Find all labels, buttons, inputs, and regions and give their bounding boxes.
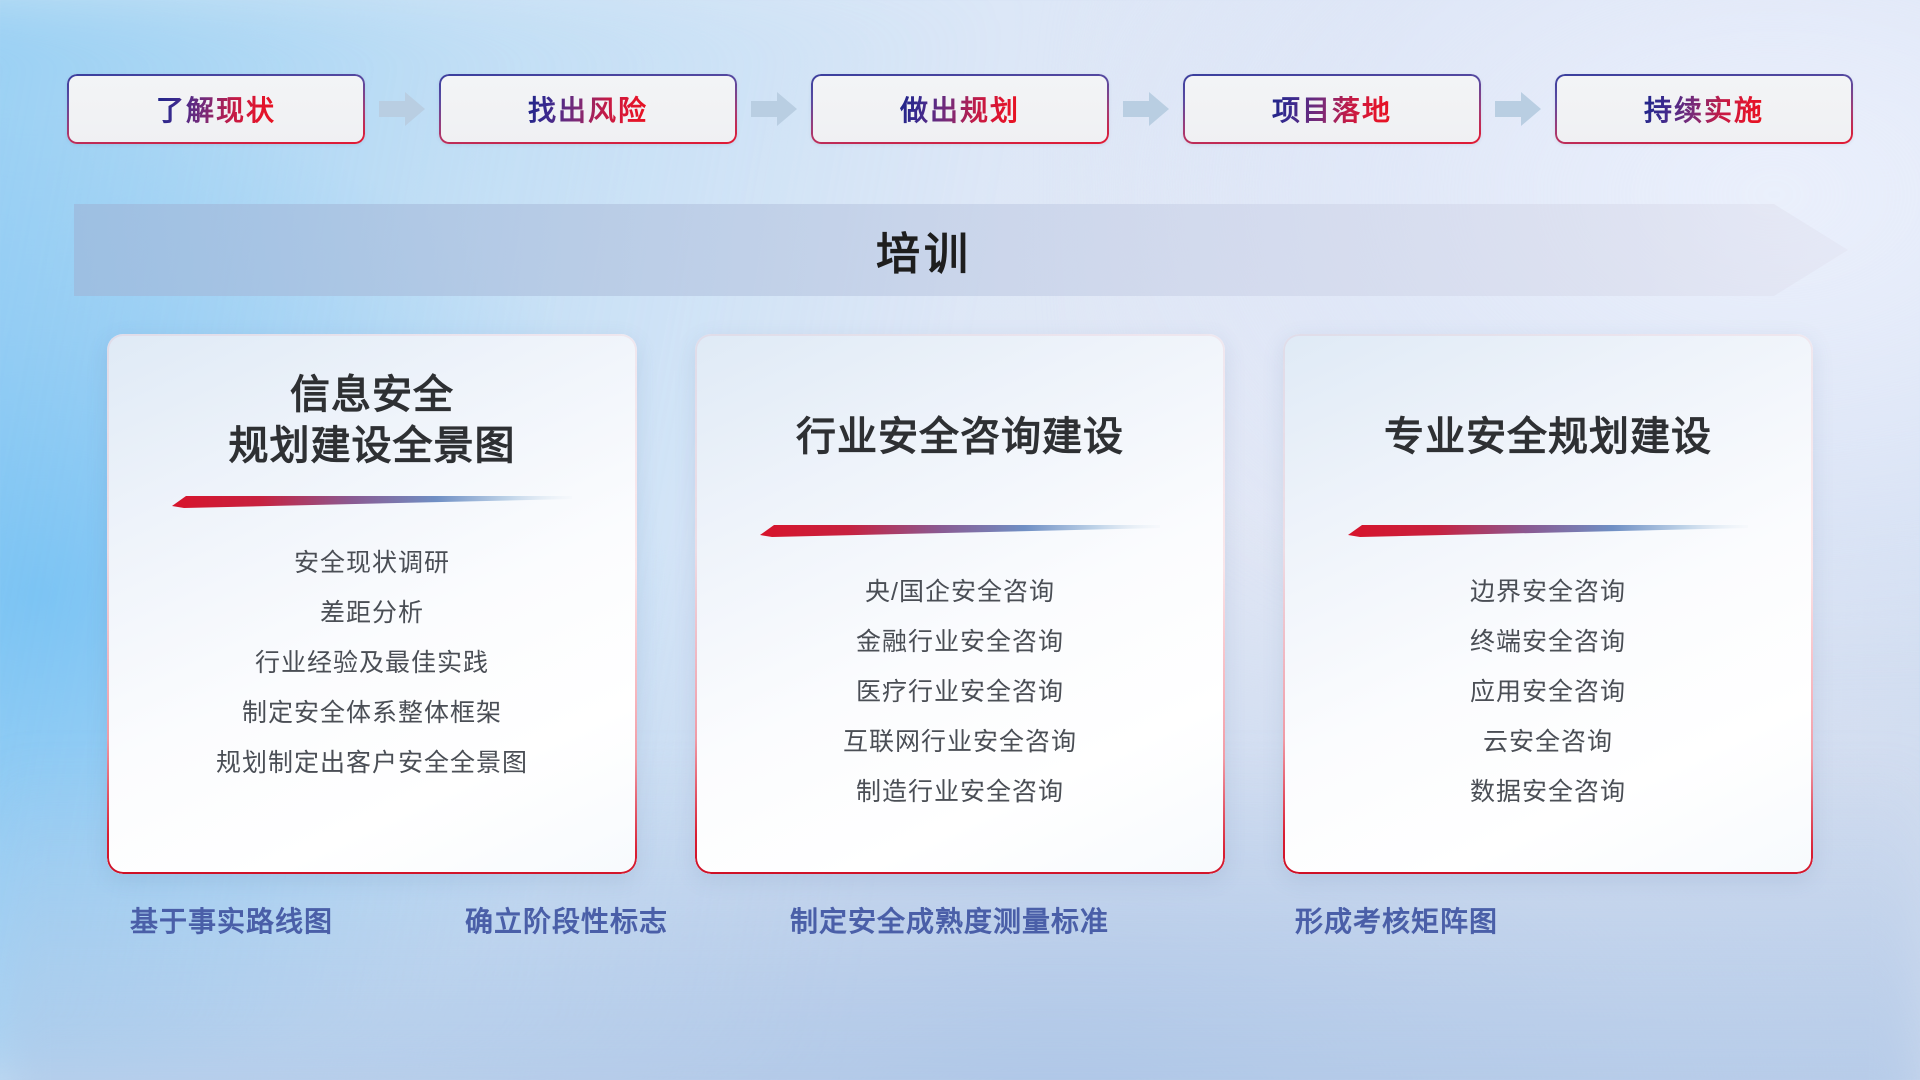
red-gradient-rule-icon (1348, 523, 1748, 537)
card-professional-security-planning[interactable]: 专业安全规划建设 (1283, 334, 1813, 874)
list-item: 互联网行业安全咨询 (843, 717, 1077, 767)
card-information-security-blueprint[interactable]: 信息安全 规划建设全景图 (107, 334, 637, 874)
card-title-1: 信息安全 规划建设全景图 (137, 370, 607, 472)
step-label-5: 持续实施 (1644, 89, 1764, 129)
list-item: 央/国企安全咨询 (865, 567, 1055, 617)
step-label-4: 项目落地 (1272, 89, 1392, 129)
step-box-1[interactable]: 了解现状 (67, 74, 365, 144)
process-step-row: 了解现状 找出风险 做出规划 项目落地 (0, 72, 1920, 146)
red-gradient-rule-icon (172, 494, 572, 508)
list-item: 差距分析 (320, 588, 424, 638)
card-list-3: 边界安全咨询 终端安全咨询 应用安全咨询 云安全咨询 数据安全咨询 (1283, 567, 1813, 817)
list-item: 制定安全体系整体框架 (242, 688, 502, 738)
card-title-2-line-1: 行业安全咨询建设 (725, 412, 1195, 463)
list-item: 金融行业安全咨询 (856, 617, 1064, 667)
step-box-2[interactable]: 找出风险 (439, 74, 737, 144)
card-title-3: 专业安全规划建设 (1313, 412, 1783, 463)
list-item: 行业经验及最佳实践 (255, 638, 489, 688)
step-label-1: 了解现状 (156, 89, 276, 129)
caption-1: 基于事实路线图 (130, 900, 333, 940)
list-item: 安全现状调研 (294, 538, 450, 588)
card-divider-3 (1348, 523, 1748, 537)
card-title-3-line-1: 专业安全规划建设 (1313, 412, 1783, 463)
step-arrow-icon-4 (1481, 74, 1555, 144)
list-item: 应用安全咨询 (1470, 667, 1626, 717)
card-row: 信息安全 规划建设全景图 (0, 334, 1920, 878)
step-label-3: 做出规划 (900, 89, 1020, 129)
list-item: 数据安全咨询 (1470, 767, 1626, 817)
step-box-3[interactable]: 做出规划 (811, 74, 1109, 144)
step-arrow-icon-2 (737, 74, 811, 144)
list-item: 规划制定出客户安全全景图 (216, 738, 528, 788)
card-industry-security-consulting[interactable]: 行业安全咨询建设 (695, 334, 1225, 874)
step-box-5[interactable]: 持续实施 (1555, 74, 1853, 144)
card-divider-1 (172, 494, 572, 508)
list-item: 云安全咨询 (1483, 717, 1613, 767)
caption-row: 基于事实路线图 确立阶段性标志 制定安全成熟度测量标准 形成考核矩阵图 (0, 900, 1920, 960)
step-label-2: 找出风险 (528, 89, 648, 129)
banner-title: 培训 (74, 204, 1774, 296)
list-item: 边界安全咨询 (1470, 567, 1626, 617)
caption-4: 形成考核矩阵图 (1295, 900, 1498, 940)
step-box-4[interactable]: 项目落地 (1183, 74, 1481, 144)
card-divider-2 (760, 523, 1160, 537)
card-title-1-line-1: 信息安全 (137, 370, 607, 421)
card-list-2: 央/国企安全咨询 金融行业安全咨询 医疗行业安全咨询 互联网行业安全咨询 制造行… (695, 567, 1225, 817)
card-title-2: 行业安全咨询建设 (725, 412, 1195, 463)
card-title-1-line-2: 规划建设全景图 (137, 421, 607, 472)
card-list-1: 安全现状调研 差距分析 行业经验及最佳实践 制定安全体系整体框架 规划制定出客户… (107, 538, 637, 788)
list-item: 制造行业安全咨询 (856, 767, 1064, 817)
slide-stage: 了解现状 找出风险 做出规划 项目落地 (0, 0, 1920, 1080)
list-item: 终端安全咨询 (1470, 617, 1626, 667)
step-arrow-icon-3 (1109, 74, 1183, 144)
step-arrow-icon-1 (365, 74, 439, 144)
red-gradient-rule-icon (760, 523, 1160, 537)
caption-3: 制定安全成熟度测量标准 (790, 900, 1109, 940)
caption-2: 确立阶段性标志 (465, 900, 668, 940)
training-banner: 培训 (74, 204, 1848, 296)
list-item: 医疗行业安全咨询 (856, 667, 1064, 717)
